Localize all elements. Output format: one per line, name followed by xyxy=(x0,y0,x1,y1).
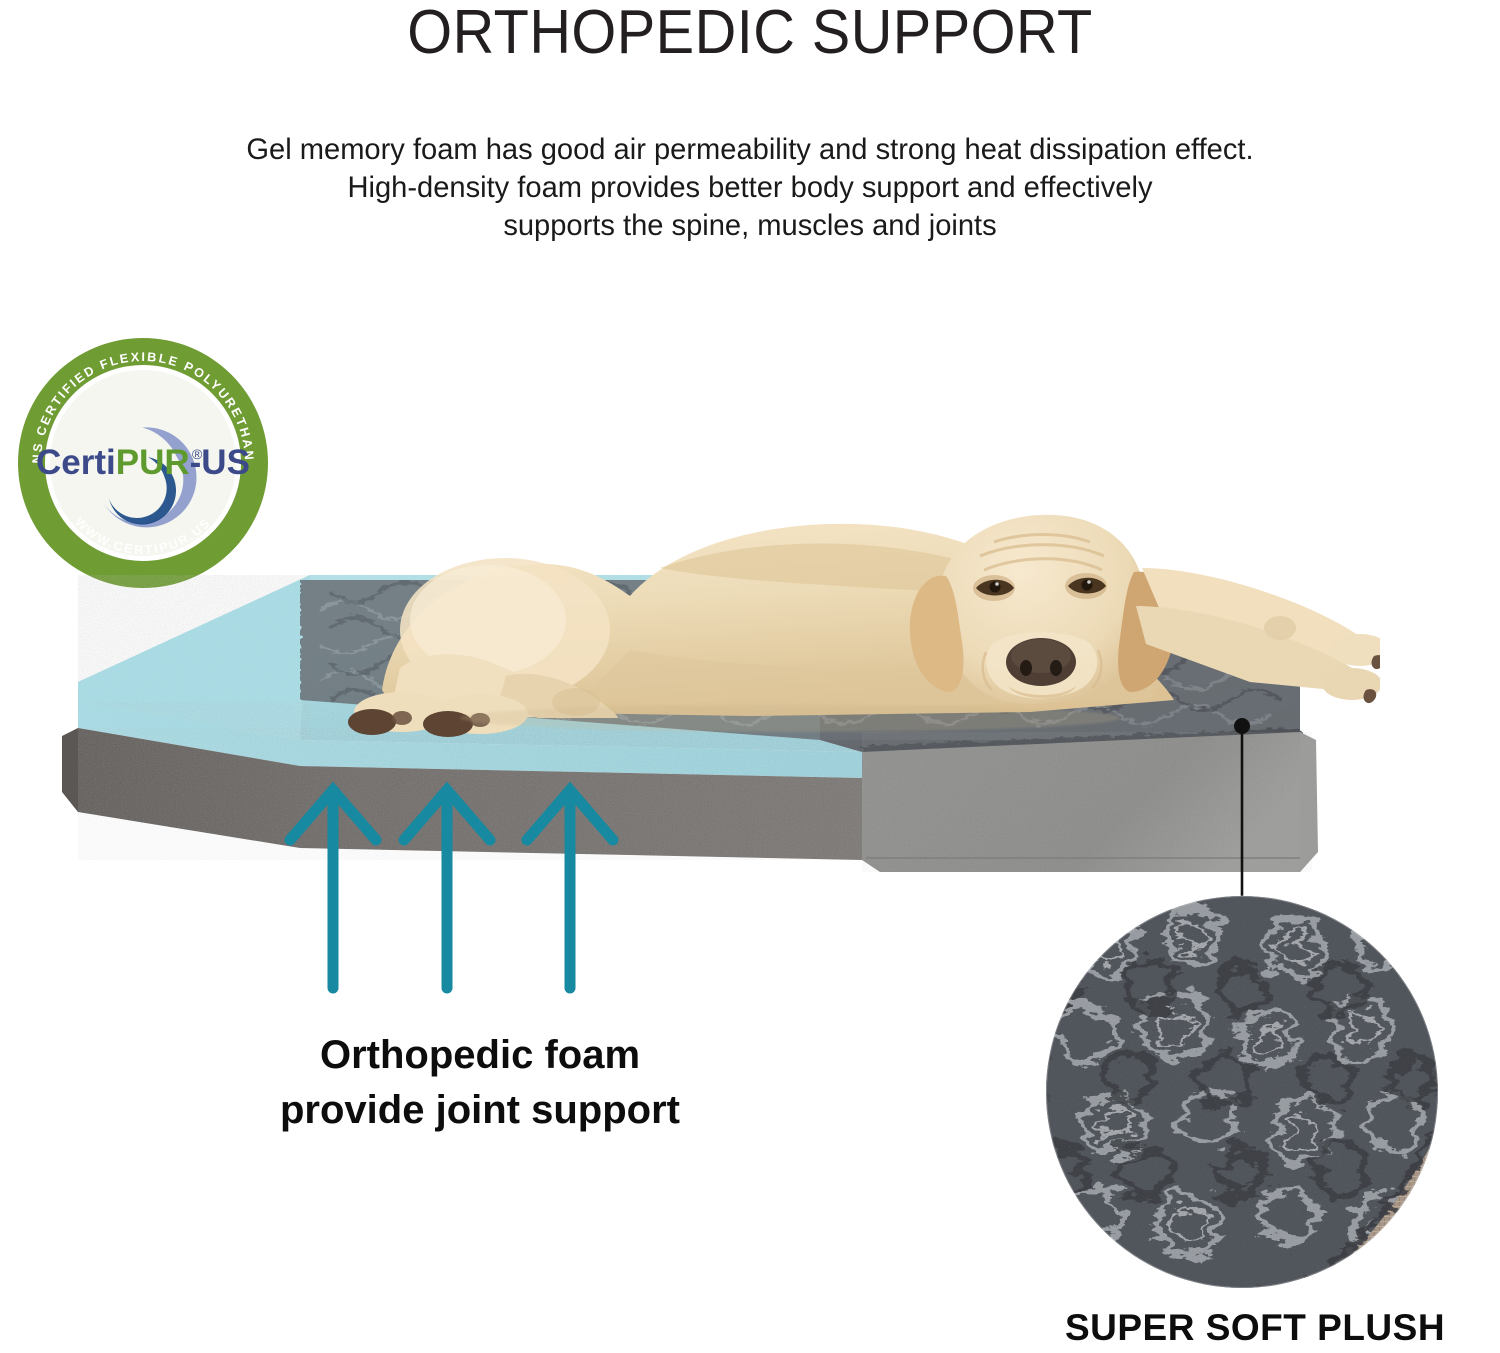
infographic-canvas: ORTHOPEDIC SUPPORT Gel memory foam has g… xyxy=(0,0,1500,1353)
support-arrow-2 xyxy=(404,790,490,988)
labrador-dog-image xyxy=(330,400,1380,800)
subtitle-line-1: Gel memory foam has good air permeabilit… xyxy=(23,131,1478,169)
foam-caption-line-2: provide joint support xyxy=(180,1083,780,1138)
plush-closeup-circle xyxy=(1044,894,1440,1290)
subtitle-line-2: High-density foam provides better body s… xyxy=(23,169,1478,207)
support-arrows-group xyxy=(280,770,660,1010)
support-arrow-3 xyxy=(527,790,613,988)
orthopedic-foam-caption: Orthopedic foam provide joint support xyxy=(180,1028,780,1138)
support-arrow-1 xyxy=(290,790,376,988)
dog-front-legs xyxy=(1136,568,1380,703)
plush-callout-leader xyxy=(1225,712,1259,912)
super-soft-plush-label: SUPER SOFT PLUSH xyxy=(1020,1306,1490,1350)
foam-caption-line-1: Orthopedic foam xyxy=(180,1028,780,1083)
page-title: ORTHOPEDIC SUPPORT xyxy=(53,0,1448,70)
subtitle-line-3: supports the spine, muscles and joints xyxy=(23,207,1478,245)
page-subtitle: Gel memory foam has good air permeabilit… xyxy=(23,131,1478,245)
